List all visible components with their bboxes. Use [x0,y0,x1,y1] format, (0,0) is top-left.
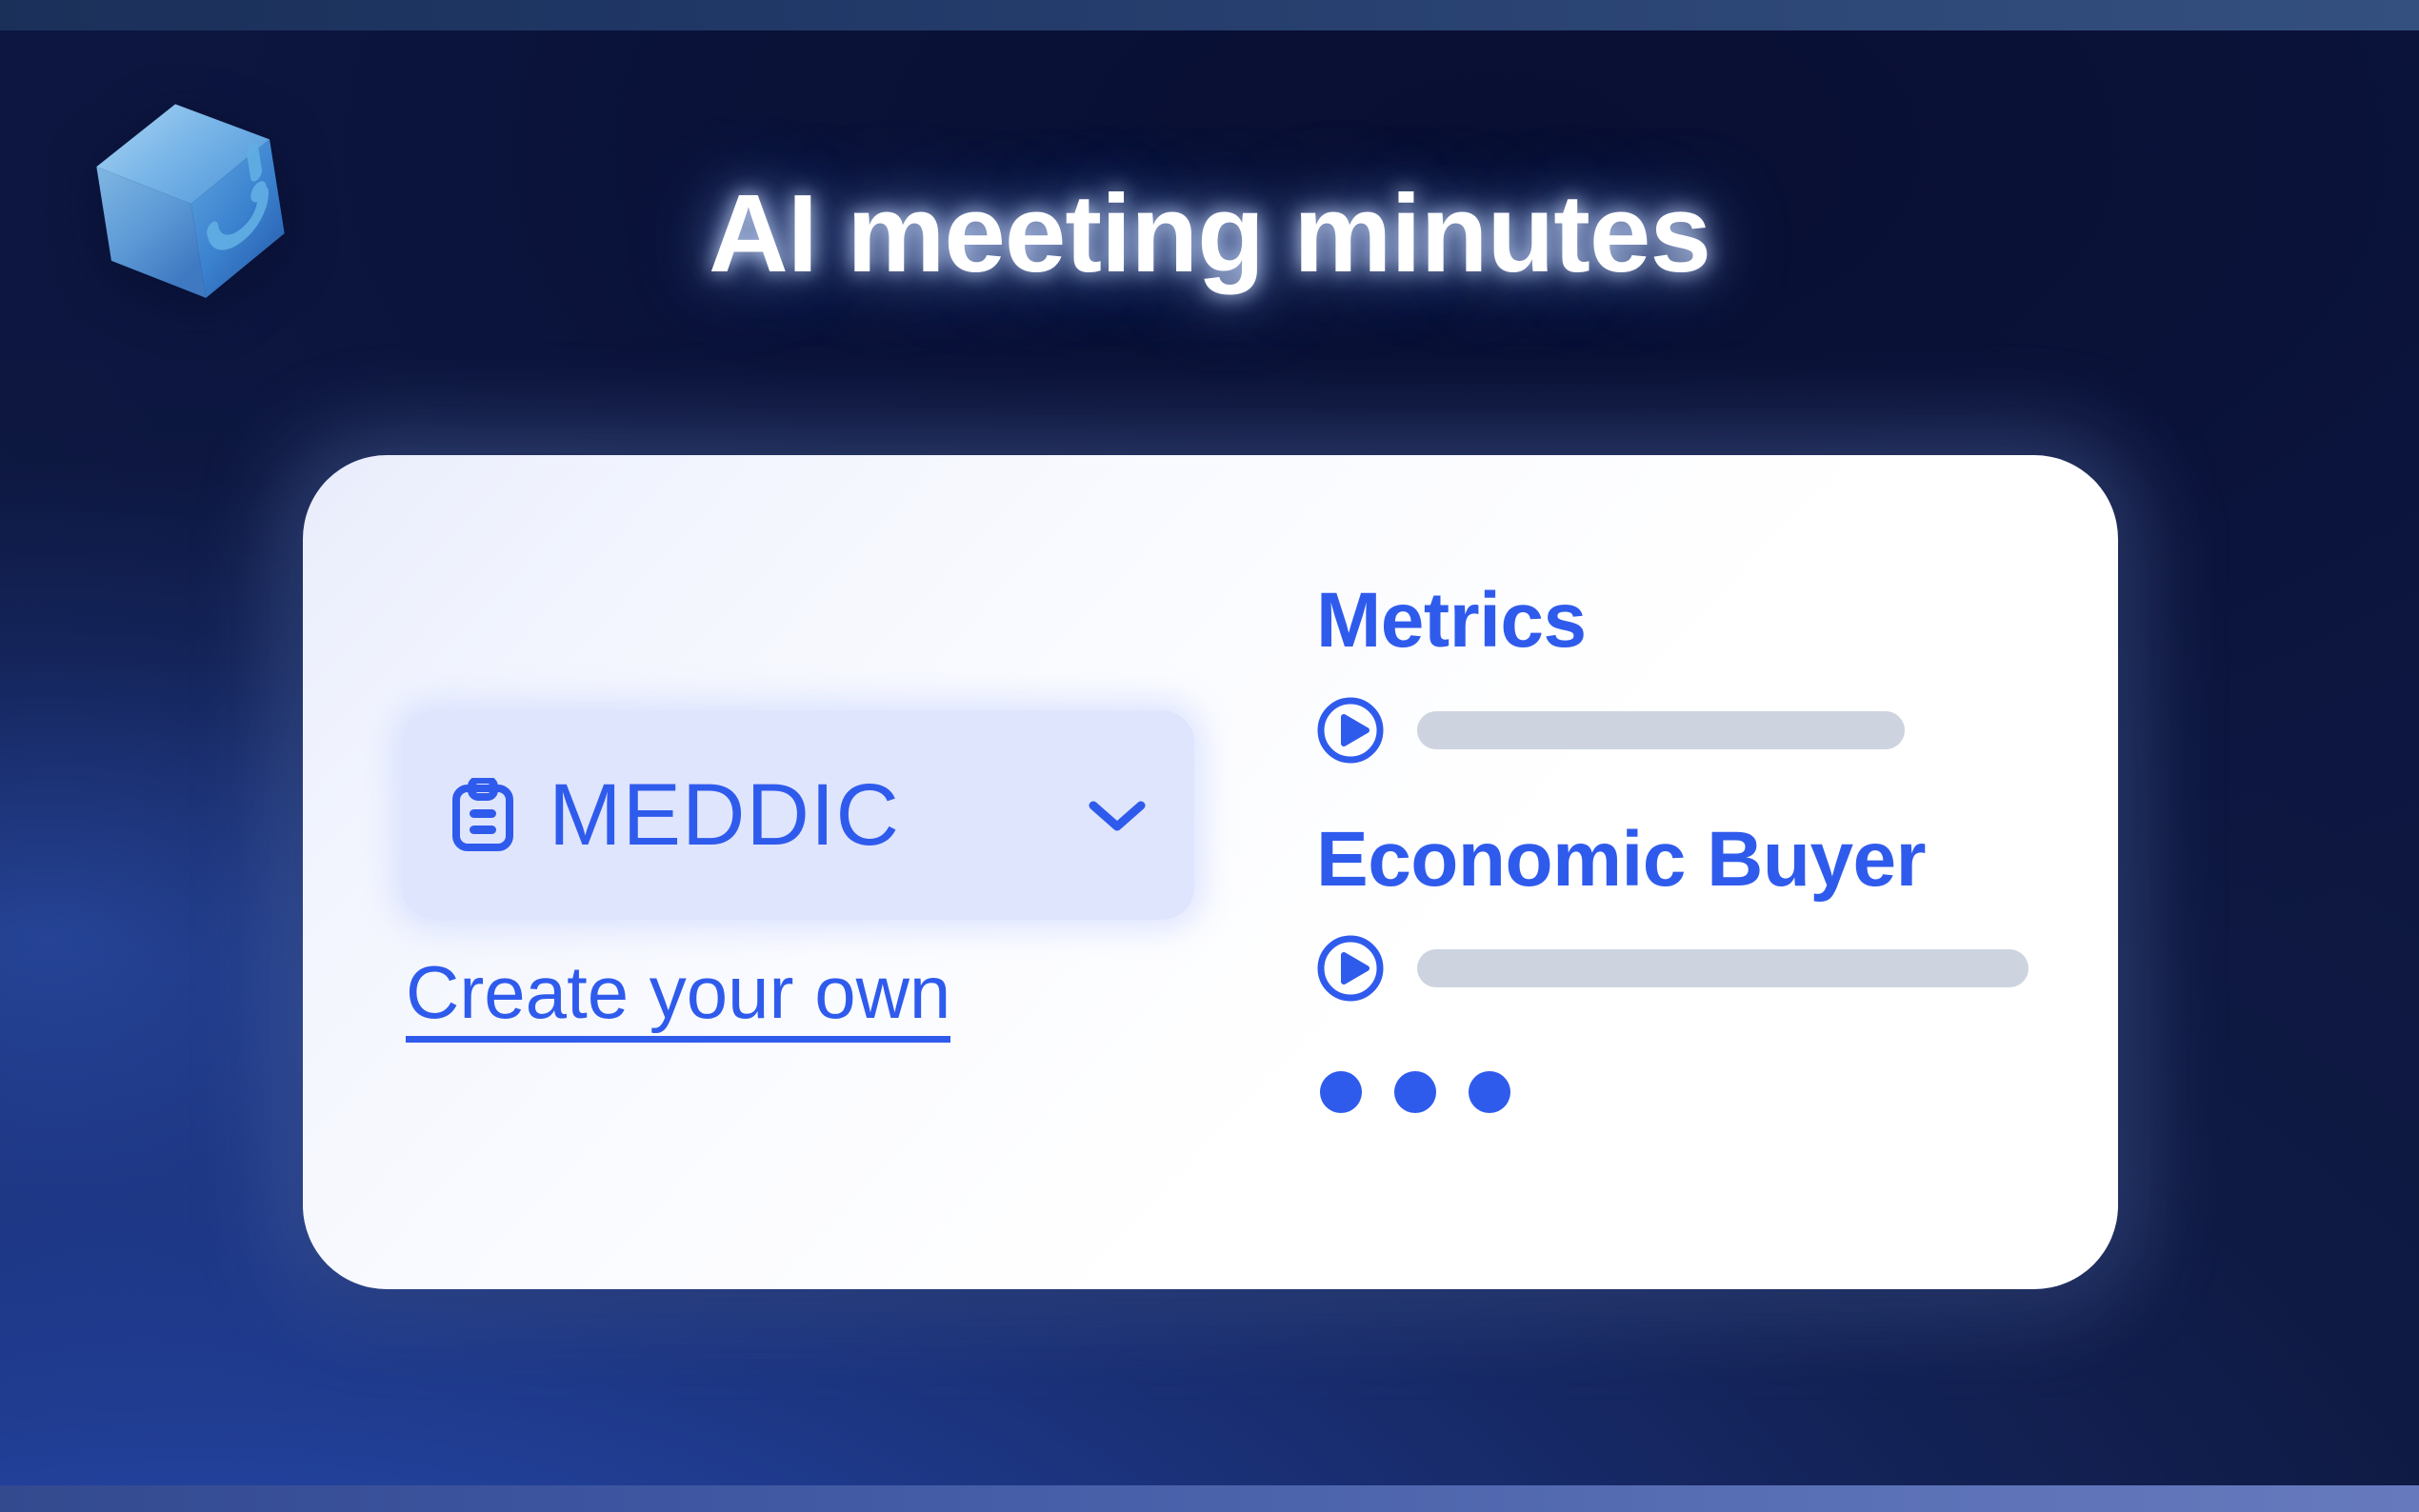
field-title: Metrics [1316,579,2078,664]
dot [1320,1071,1362,1113]
three-dots-icon[interactable] [1320,1071,2078,1113]
field-row [1316,696,2078,765]
field-spacer [1316,765,2078,818]
field-economic-buyer: Economic Buyer [1316,818,2078,1004]
play-circle-icon[interactable] [1316,696,1385,765]
clipboard-icon [451,778,514,852]
template-selector-wrap: MEDDIC [402,710,1194,920]
card-left-column: MEDDIC Create your own [402,710,1221,1043]
chevron-down-icon[interactable] [1084,794,1150,836]
card-right-column: Metrics Economic Buyer [1316,579,2078,1113]
dot [1469,1071,1510,1113]
template-selector-dropdown[interactable]: MEDDIC [402,710,1194,920]
field-metrics: Metrics [1316,579,2078,765]
create-your-own-link[interactable]: Create your own [406,954,950,1043]
field-title: Economic Buyer [1316,818,2078,903]
screenshot-stage: AI meeting minutes MEDDIC [0,0,2419,1512]
dot [1394,1071,1436,1113]
content-placeholder-bar [1417,949,2029,987]
play-circle-icon[interactable] [1316,934,1385,1003]
template-preview-card: MEDDIC Create your own Metrics [303,455,2118,1289]
page-title: AI meeting minutes [0,169,2419,297]
template-selector-label: MEDDIC [549,771,1074,859]
field-row [1316,934,2078,1003]
content-placeholder-bar [1417,711,1905,749]
